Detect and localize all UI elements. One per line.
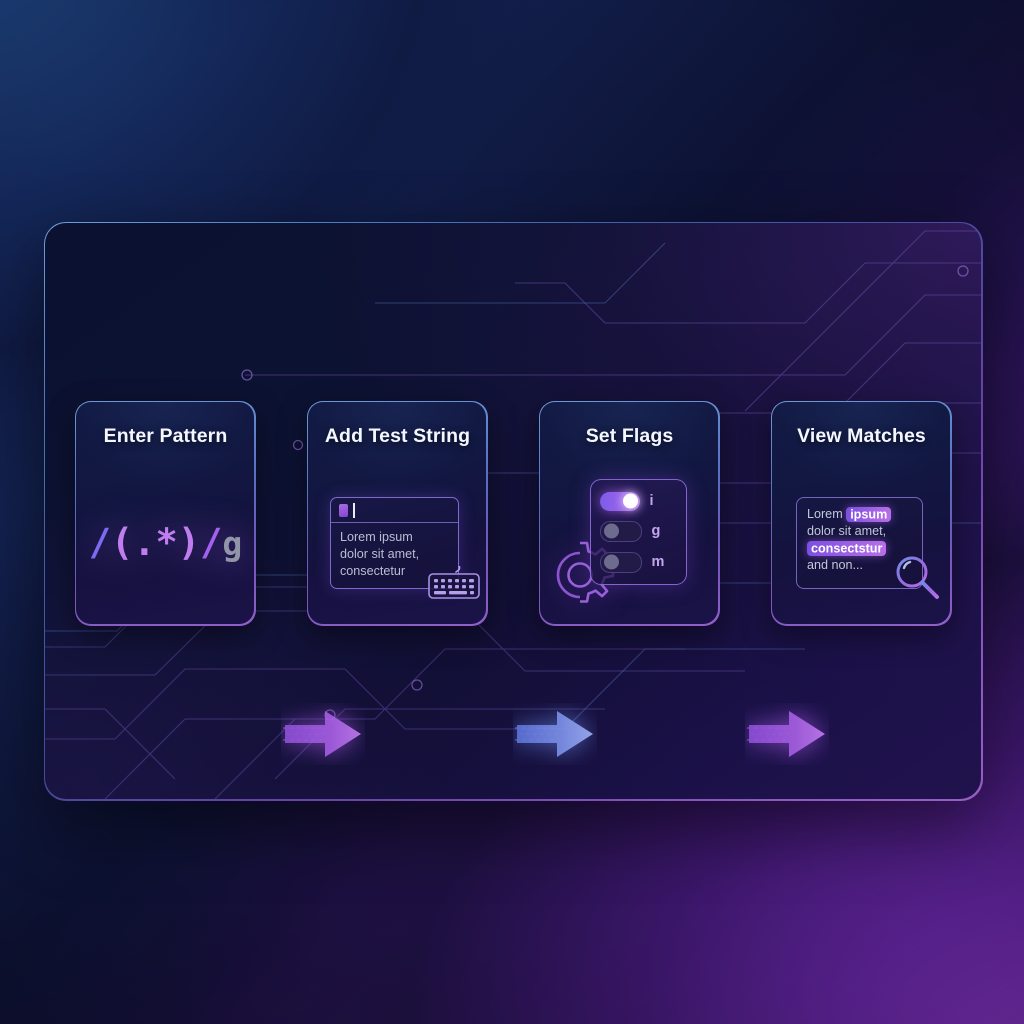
diagram-canvas: Enter Pattern /(.*)/g Add Test String <box>0 0 1024 1024</box>
vignette-overlay <box>0 0 1024 1024</box>
